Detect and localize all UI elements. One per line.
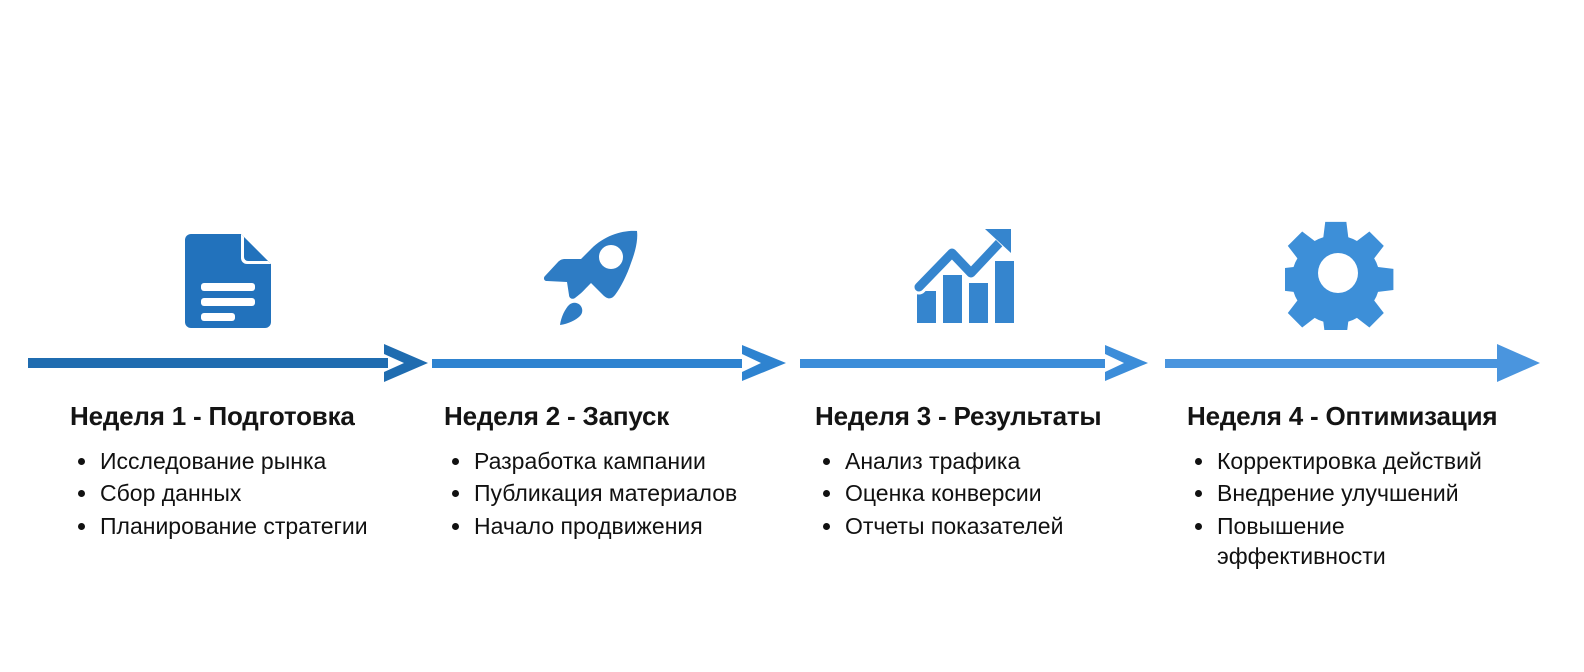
list-item: Корректировка действий: [1187, 446, 1517, 476]
stage-bullet-list-week-2: Разработка кампании Публикация материало…: [444, 446, 809, 541]
stage-title-week-4: Неделя 4 - Оптимизация: [1187, 402, 1517, 432]
list-item: Отчеты показателей: [815, 511, 1175, 541]
stage-title-week-3: Неделя 3 - Результаты: [815, 402, 1175, 432]
stage-title-week-1: Неделя 1 - Подготовка: [70, 402, 440, 432]
list-item: Публикация материалов: [444, 478, 809, 508]
list-item: Анализ трафика: [815, 446, 1175, 476]
timeline-arrow-4: [1165, 344, 1540, 382]
stage-column-week-4: Неделя 4 - Оптимизация Корректировка дей…: [1187, 402, 1517, 573]
timeline-arrow-band: [0, 336, 1584, 390]
stage-column-week-3: Неделя 3 - Результаты Анализ трафика Оце…: [815, 402, 1175, 543]
stage-bullet-list-week-3: Анализ трафика Оценка конверсии Отчеты п…: [815, 446, 1175, 541]
stage-icon-week-1: [168, 218, 288, 338]
stage-bullet-list-week-4: Корректировка действий Внедрение улучшен…: [1187, 446, 1517, 571]
list-item: Начало продвижения: [444, 511, 809, 541]
stage-icon-week-2: [535, 215, 655, 335]
stage-icon-week-4: [1280, 215, 1400, 335]
stage-icon-week-3: [905, 215, 1025, 335]
timeline-arrow-1: [28, 344, 428, 382]
stage-bullet-list-week-1: Исследование рынка Сбор данных Планирова…: [70, 446, 440, 541]
list-item: Разработка кампании: [444, 446, 809, 476]
list-item: Исследование рынка: [70, 446, 440, 476]
stage-title-week-2: Неделя 2 - Запуск: [444, 402, 809, 432]
list-item: Сбор данных: [70, 478, 440, 508]
timeline-arrow-2: [432, 345, 786, 381]
timeline-diagram: Неделя 1 - Подготовка Исследование рынка…: [0, 0, 1584, 672]
timeline-arrow-3: [800, 345, 1148, 381]
list-item: Повышение эффективности: [1187, 511, 1432, 572]
list-item: Внедрение улучшений: [1187, 478, 1517, 508]
stage-column-week-2: Неделя 2 - Запуск Разработка кампании Пу…: [444, 402, 809, 543]
stage-column-week-1: Неделя 1 - Подготовка Исследование рынка…: [70, 402, 440, 543]
list-item: Оценка конверсии: [815, 478, 1175, 508]
list-item: Планирование стратегии: [70, 511, 440, 541]
